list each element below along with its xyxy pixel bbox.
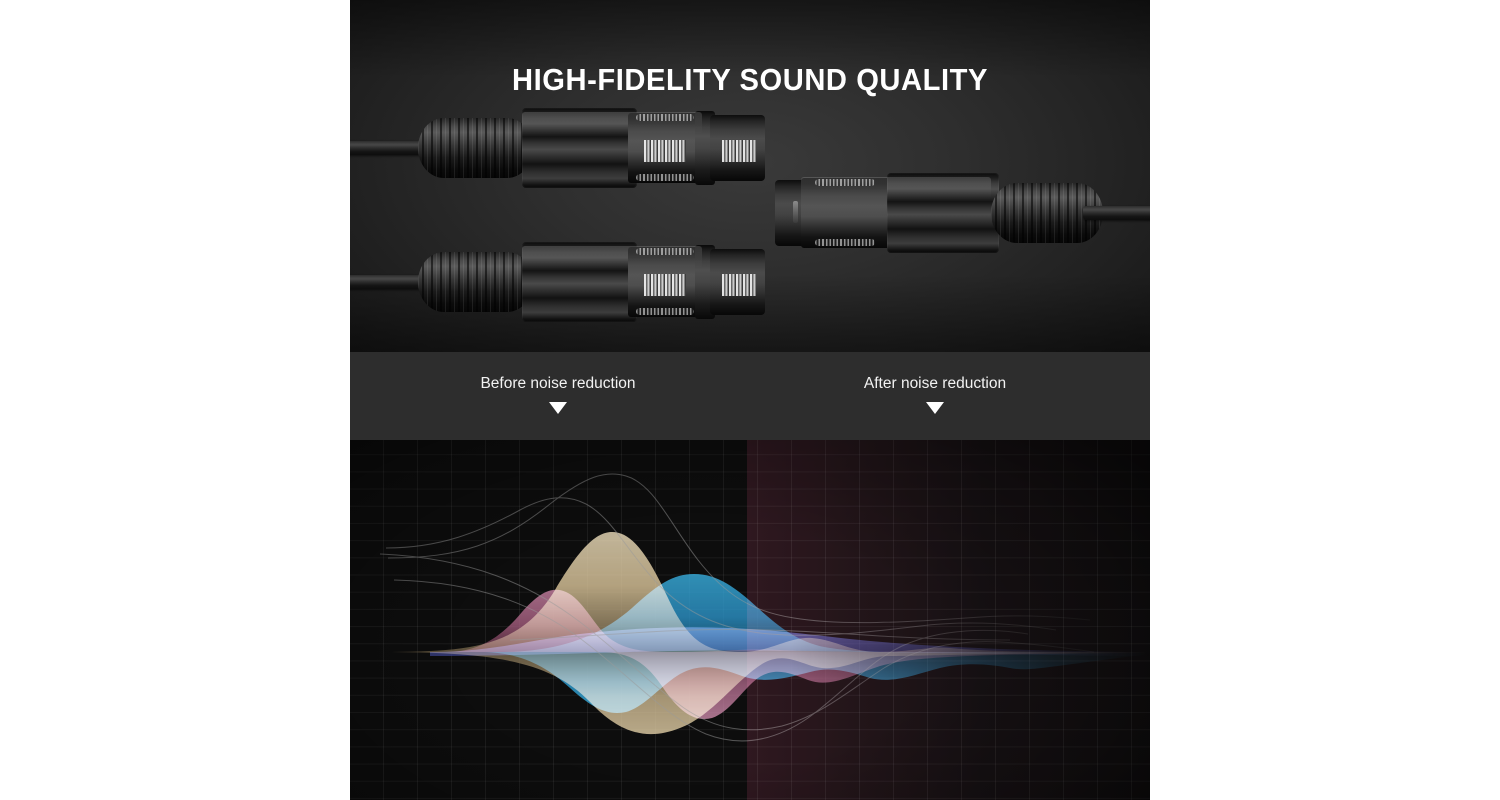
knurl-tab-top-lower [636,174,694,181]
after-noise-reduction-label: After noise reduction [775,376,1095,392]
waveform-chart [350,440,1150,800]
barrel-male [887,173,999,253]
head-knurl-stripe-bottom [722,274,756,296]
page-title: HIGH-FIDELITY SOUND QUALITY [374,62,1126,98]
before-noise-reduction-label: Before noise reduction [398,376,718,392]
comparison-label-band: Before noise reduction After noise reduc… [350,352,1150,440]
triangle-down-icon-before [549,402,567,414]
xlr-connector-male-right [775,165,1150,261]
knurl-tab-top-upper [636,114,694,121]
shell-male [801,178,891,248]
content-column: HIGH-FIDELITY SOUND QUALITY [350,0,1150,800]
knurl-stripe-top [644,140,686,162]
cable-male [1083,206,1150,220]
knurl-tab-male-lower [815,239,875,246]
waveform-panel [350,440,1150,800]
strain-relief-boot-bottom [418,252,533,312]
latch-pin-male [793,201,798,223]
label-column-after: After noise reduction [775,352,1095,440]
barrel-bottom [522,242,637,322]
knurl-stripe-bottom [644,274,686,296]
strain-relief-boot-top [418,118,533,178]
knurl-tab-bottom-lower [636,308,694,315]
xlr-connector-female-top [350,100,730,196]
barrel-top [522,108,637,188]
knurl-tab-male-upper [815,179,875,186]
xlr-connector-female-bottom [350,234,730,330]
knurl-tab-bottom-upper [636,248,694,255]
hero-panel: HIGH-FIDELITY SOUND QUALITY [350,0,1150,352]
label-column-before: Before noise reduction [398,352,718,440]
triangle-down-icon-after [926,402,944,414]
head-knurl-stripe-top [722,140,756,162]
product-marketing-image: HIGH-FIDELITY SOUND QUALITY [0,0,1500,800]
